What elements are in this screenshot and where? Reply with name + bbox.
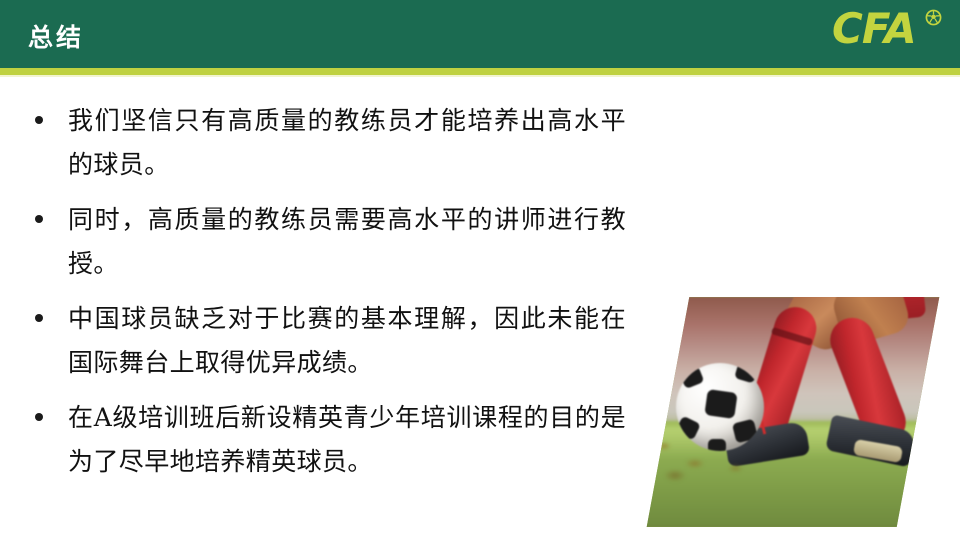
soccer-player-kicking-ball-photo	[647, 297, 940, 527]
soccer-ball-icon	[925, 9, 942, 26]
cfa-logo-text: CFA	[832, 8, 916, 50]
photo-blur-wrapper	[647, 297, 940, 527]
bullet-text: 我们坚信只有高质量的教练员才能培养出高水平的球员。	[68, 99, 626, 187]
bullet-text: 在A级培训班后新设精英青少年培训课程的目的是为了尽早地培养精英球员。	[68, 396, 626, 484]
list-item: 在A级培训班后新设精英青少年培训课程的目的是为了尽早地培养精英球员。	[26, 396, 626, 484]
bullet-dot-icon	[35, 215, 43, 223]
bullet-list: 我们坚信只有高质量的教练员才能培养出高水平的球员。 同时，高质量的教练员需要高水…	[26, 99, 626, 495]
bullet-dot-icon	[35, 116, 43, 124]
soccer-ball	[676, 363, 764, 451]
ball-panel	[708, 439, 726, 451]
bullet-text: 同时，高质量的教练员需要高水平的讲师进行教授。	[68, 198, 626, 286]
bullet-dot-icon	[35, 314, 43, 322]
ball-panel	[704, 389, 737, 419]
photo-inner	[647, 297, 940, 527]
page-title: 总结	[28, 18, 84, 54]
header-accent-bar	[0, 68, 960, 75]
cfa-logo: CFA	[832, 6, 942, 62]
list-item: 同时，高质量的教练员需要高水平的讲师进行教授。	[26, 198, 626, 286]
bullet-text: 中国球员缺乏对于比赛的基本理解，因此未能在国际舞台上取得优异成绩。	[68, 297, 626, 385]
bullet-dot-icon	[35, 413, 43, 421]
slide-canvas: 总结 CFA 我们坚信只有高质量的教练员才能培养出高水平的球员。 同时，高质量的…	[0, 0, 960, 540]
header-band	[0, 0, 960, 68]
list-item: 中国球员缺乏对于比赛的基本理解，因此未能在国际舞台上取得优异成绩。	[26, 297, 626, 385]
list-item: 我们坚信只有高质量的教练员才能培养出高水平的球员。	[26, 99, 626, 187]
header-accent-thin-line	[0, 75, 960, 77]
